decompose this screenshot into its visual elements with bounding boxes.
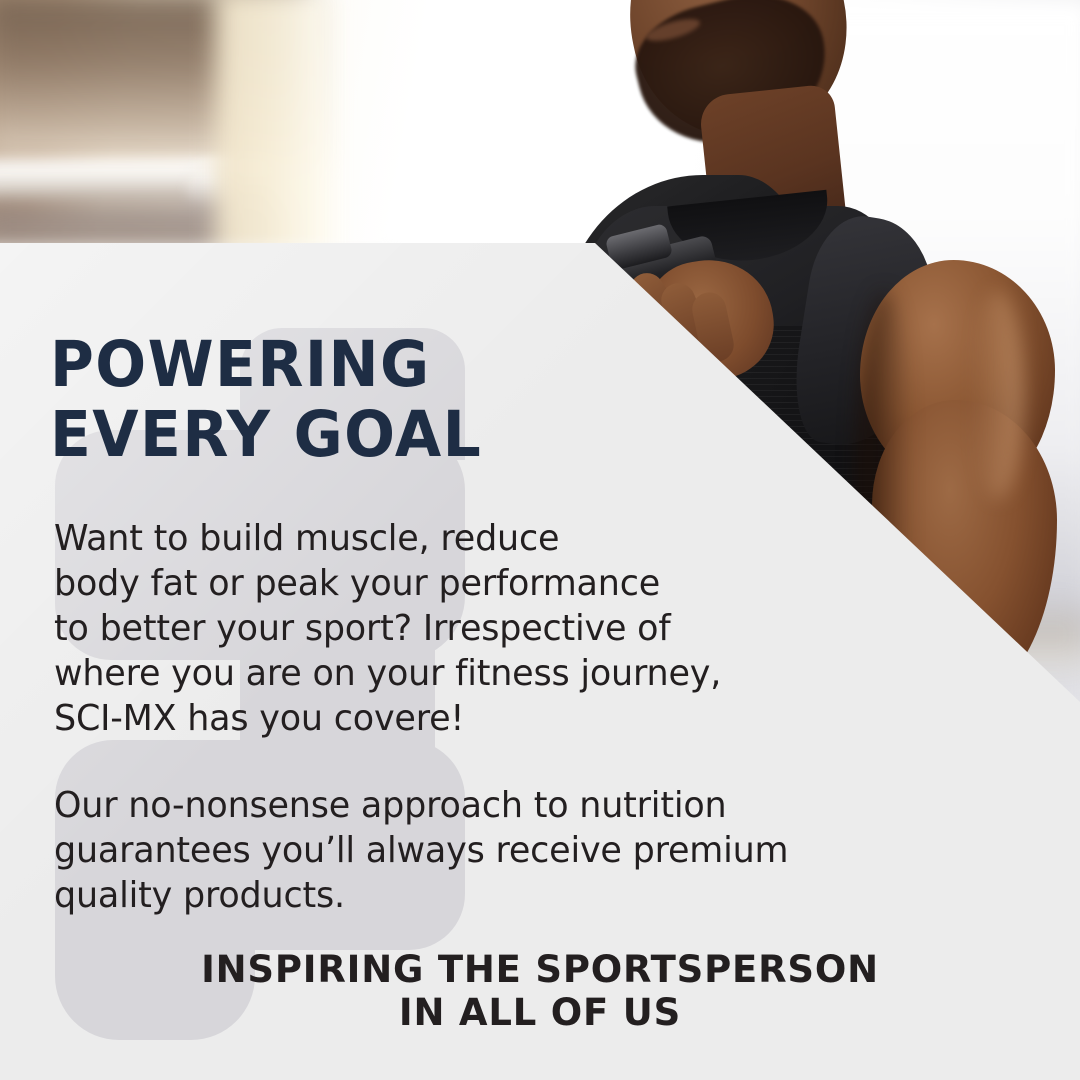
- page-title: POWERING EVERY GOAL: [50, 330, 482, 470]
- arm-highlight: [972, 290, 1024, 500]
- body-paragraph-1: Want to build muscle, reduce body fat or…: [54, 516, 908, 741]
- brand-tagline: INSPIRING THE SPORTSPERSON IN ALL OF US: [0, 948, 1080, 1034]
- promo-banner: POWERING EVERY GOAL Want to build muscle…: [0, 0, 1080, 1080]
- body-paragraph-2: Our no-nonsense approach to nutrition gu…: [54, 783, 946, 918]
